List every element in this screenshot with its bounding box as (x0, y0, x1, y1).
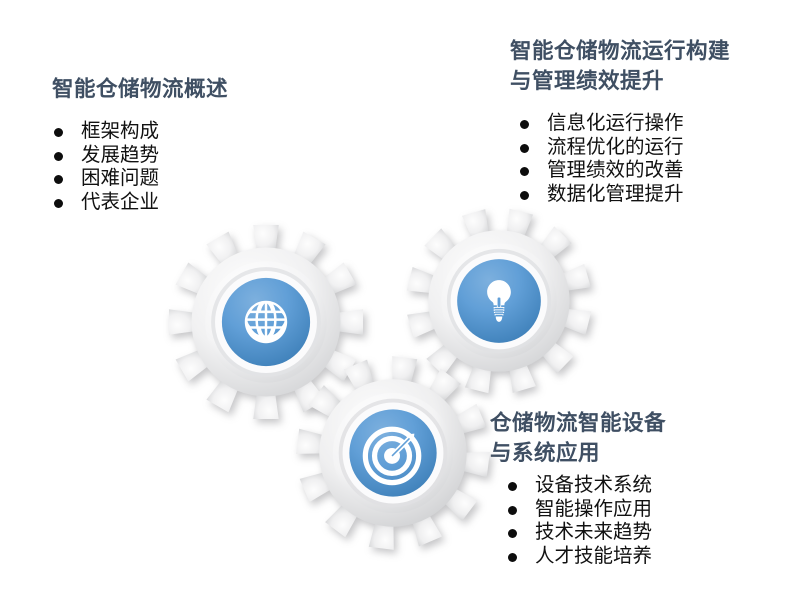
text-block-equipment: 仓储物流智能设备 与系统应用 设备技术系统 智能操作应用 技术未来趋势 人才技能… (490, 408, 790, 568)
equipment-heading: 仓储物流智能设备 与系统应用 (490, 408, 790, 468)
target-icon (365, 429, 418, 482)
text-block-overview: 智能仓储物流概述 框架构成 发展趋势 困难问题 代表企业 (52, 74, 352, 214)
text-block-operation: 智能仓储物流运行构建 与管理绩效提升 信息化运行操作 流程优化的运行 管理绩效的… (510, 36, 798, 206)
list-item: 管理绩效的改善 (518, 159, 798, 183)
list-item: 人才技能培养 (506, 545, 790, 569)
list-item: 信息化运行操作 (518, 112, 798, 136)
gear-target[interactable] (296, 356, 490, 550)
overview-bullet-list: 框架构成 发展趋势 困难问题 代表企业 (52, 120, 352, 214)
list-item: 困难问题 (52, 167, 352, 191)
list-item: 智能操作应用 (506, 498, 790, 522)
list-item: 代表企业 (52, 191, 352, 215)
list-item: 流程优化的运行 (518, 136, 798, 160)
slide-canvas: 智能仓储物流概述 框架构成 发展趋势 困难问题 代表企业 智能仓储物流运行构建 … (0, 0, 810, 597)
list-item: 设备技术系统 (506, 474, 790, 498)
list-item: 数据化管理提升 (518, 183, 798, 207)
list-item: 技术未来趋势 (506, 521, 790, 545)
operation-bullet-list: 信息化运行操作 流程优化的运行 管理绩效的改善 数据化管理提升 (518, 112, 798, 206)
operation-heading: 智能仓储物流运行构建 与管理绩效提升 (510, 36, 798, 96)
list-item: 框架构成 (52, 120, 352, 144)
list-item: 发展趋势 (52, 144, 352, 168)
equipment-bullet-list: 设备技术系统 智能操作应用 技术未来趋势 人才技能培养 (506, 474, 790, 568)
overview-heading: 智能仓储物流概述 (52, 74, 352, 104)
